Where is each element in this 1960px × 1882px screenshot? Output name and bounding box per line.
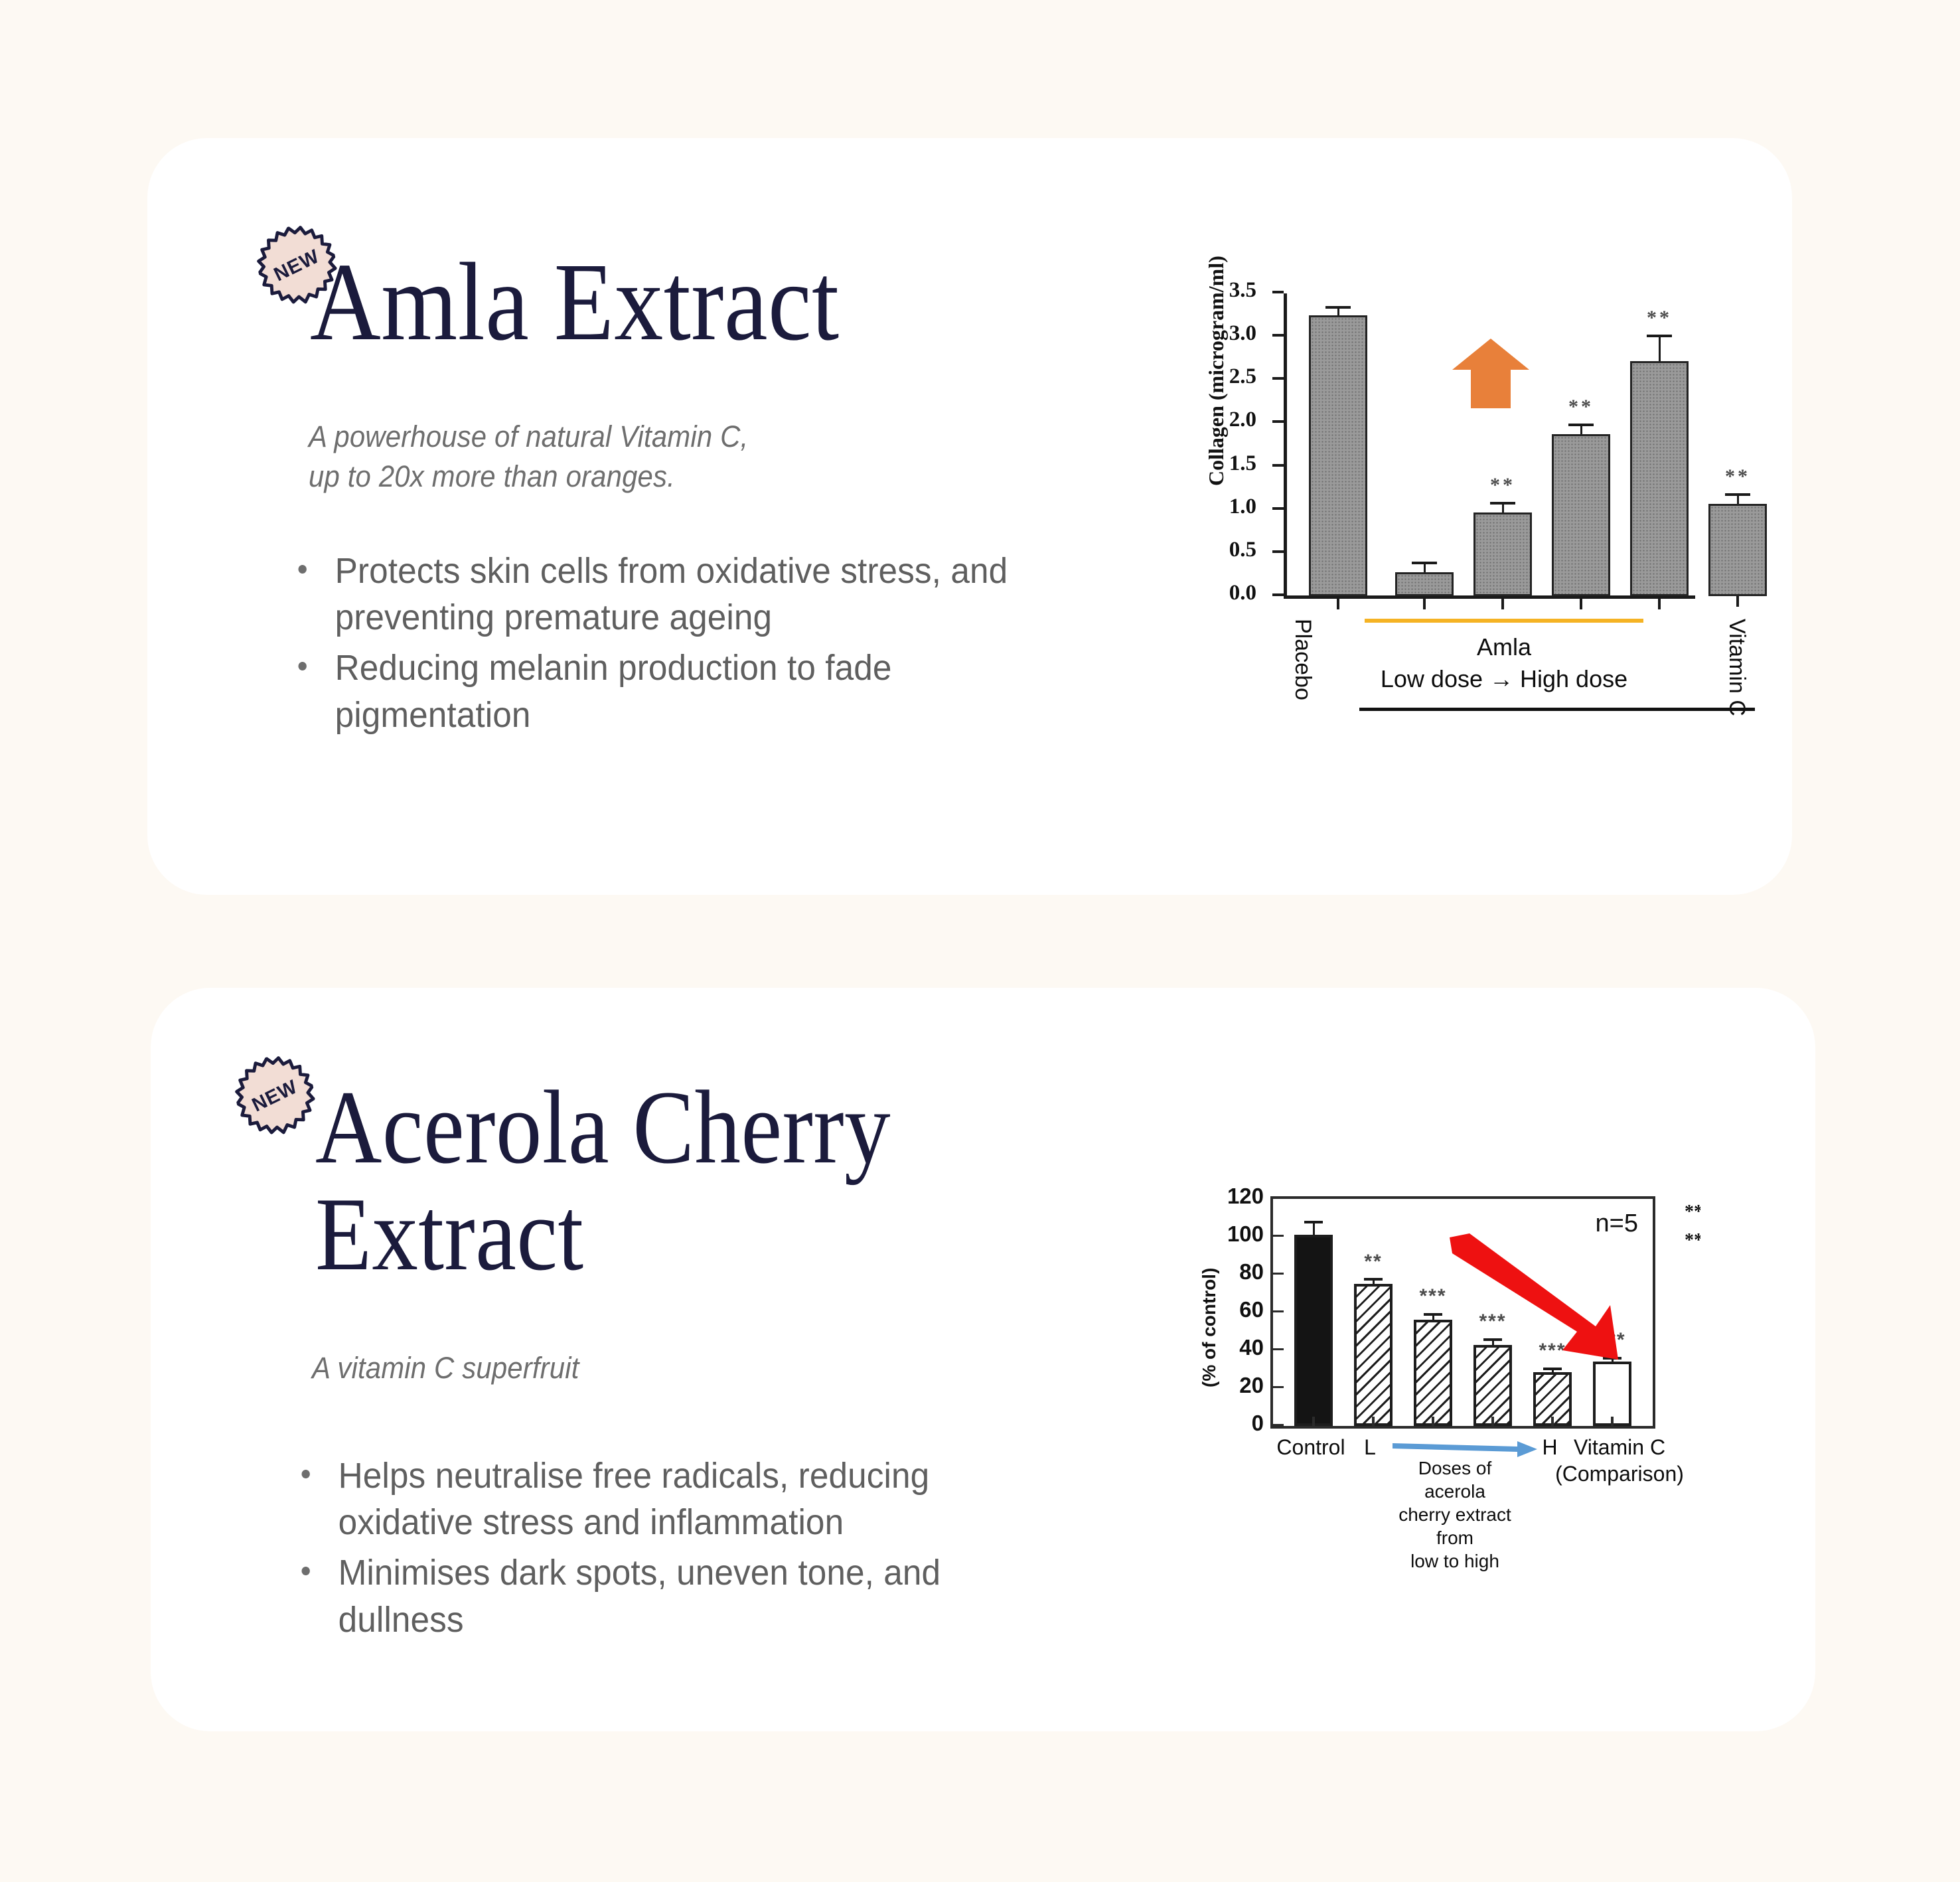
chart-y-axis-label: (% of control) — [1199, 1268, 1220, 1387]
y-tick-label: 120 — [1227, 1184, 1264, 1209]
chart-acerola-melanin: (% of control) 0 20 40 60 80 100 — [1195, 1188, 1699, 1613]
y-tick-label: 2.5 — [1229, 364, 1256, 389]
error-cap — [1412, 562, 1437, 564]
bar-amla-dose3 — [1552, 434, 1610, 596]
y-tick: 20 — [1273, 1386, 1284, 1388]
bar-amla-dose1 — [1395, 572, 1454, 596]
down-right-arrow-red-icon — [1444, 1233, 1622, 1364]
error-cap — [1304, 1221, 1323, 1223]
error-cap — [1325, 306, 1351, 309]
x-tick-label-high: H — [1542, 1435, 1557, 1460]
y-tick: 1.0 — [1272, 507, 1284, 510]
list-item: Protects skin cells from oxidative stres… — [292, 548, 1049, 641]
y-tick: 2.5 — [1272, 377, 1284, 380]
error-bar — [1659, 336, 1661, 361]
list-item: Reducing melanin production to fade pigm… — [292, 645, 1049, 738]
y-tick-label: 1.5 — [1229, 451, 1256, 476]
benefits-list-amla: Protects skin cells from oxidative stres… — [292, 548, 1089, 742]
y-tick: 80 — [1273, 1273, 1284, 1275]
x-tick-label-vitamin-c: Vitamin C — [1574, 1435, 1665, 1460]
chart-amla-collagen: Collagen (microgram/ml) 0.0 0.5 1.0 1.5 … — [1207, 287, 1711, 751]
y-tick-label: 40 — [1239, 1335, 1264, 1360]
y-tick: 0.0 — [1272, 593, 1284, 596]
x-tick-label-comparison: (Comparison) — [1555, 1462, 1684, 1486]
x-tick — [1580, 599, 1582, 609]
x-tick — [1337, 599, 1339, 609]
card-amla-extract: NEW Amla Extract A powerhouse of natural… — [147, 138, 1792, 895]
subtitle-acerola: A vitamin C superfruit — [312, 1348, 991, 1388]
bar-placebo — [1309, 315, 1367, 596]
up-arrow-orange-icon — [1451, 339, 1531, 408]
significance-marker: ** — [1568, 396, 1594, 418]
x-tick — [1372, 1417, 1375, 1426]
error-bar — [1737, 495, 1739, 504]
legend-item: ** — [1685, 1198, 1700, 1226]
x-tick — [1551, 1417, 1554, 1426]
list-item: Minimises dark spots, uneven tone, and d… — [295, 1549, 1002, 1642]
chart-y-axis-label: Collagen (microgram/ml) — [1204, 256, 1229, 486]
page-title-acerola: Acerola Cherry Extract — [315, 1074, 891, 1288]
error-cap — [1490, 502, 1515, 505]
error-cap — [1424, 1313, 1442, 1316]
bar-amla-dose4 — [1630, 361, 1689, 596]
x-tick — [1611, 1417, 1614, 1426]
x-tick-label-low: L — [1364, 1435, 1376, 1460]
card-acerola-cherry-extract: NEW Acerola Cherry Extract A vitamin C s… — [151, 988, 1815, 1731]
bottom-rule — [1359, 708, 1755, 711]
error-cap — [1725, 493, 1750, 496]
y-tick-label: 1.0 — [1229, 495, 1256, 519]
y-tick: 60 — [1273, 1310, 1284, 1312]
x-tick-label-vitamin-c: Vitamin C — [1724, 619, 1750, 716]
significance-marker: *** — [1419, 1285, 1446, 1308]
significance-marker: ** — [1725, 465, 1750, 488]
y-tick: 120 — [1273, 1197, 1284, 1199]
y-tick: 40 — [1273, 1348, 1284, 1350]
chart-plot-area: 0 20 40 60 80 100 120 n=5 — [1270, 1196, 1655, 1429]
error-bar — [1424, 563, 1426, 572]
right-arrow-blue-icon — [1393, 1441, 1539, 1458]
y-tick-label: 60 — [1239, 1297, 1264, 1322]
x-tick — [1432, 1417, 1434, 1426]
group-bracket-amber — [1365, 619, 1643, 623]
x-axis-caption: Doses of acerola cherry extract from low… — [1389, 1456, 1521, 1573]
subtitle-amla: A powerhouse of natural Vitamin C, up to… — [309, 417, 988, 497]
x-tick — [1491, 1417, 1494, 1426]
y-tick: 3.5 — [1272, 291, 1284, 293]
y-tick-label: 2.0 — [1229, 408, 1256, 432]
error-cap — [1543, 1368, 1562, 1370]
x-tick-label-control: Control — [1276, 1435, 1345, 1460]
y-tick: 2.0 — [1272, 420, 1284, 423]
error-bar — [1313, 1222, 1315, 1235]
y-tick: 100 — [1273, 1235, 1284, 1237]
x-tick — [1423, 599, 1426, 609]
y-tick-label: 0 — [1252, 1411, 1264, 1436]
significance-marker: ** — [1647, 307, 1672, 329]
y-tick: 1.5 — [1272, 464, 1284, 467]
y-tick-label: 20 — [1239, 1373, 1264, 1398]
bar-vitamin-c — [1708, 504, 1767, 596]
error-cap — [1568, 424, 1594, 426]
significance-marker: ** — [1364, 1251, 1382, 1273]
y-axis-line — [1284, 293, 1287, 599]
bar-control — [1294, 1235, 1333, 1426]
y-tick: 0.5 — [1272, 550, 1284, 553]
x-tick — [1658, 599, 1661, 609]
error-bar — [1502, 503, 1504, 512]
y-tick-label: 3.0 — [1229, 321, 1256, 346]
y-tick-label: 80 — [1239, 1259, 1264, 1285]
x-tick — [1501, 599, 1504, 609]
y-tick-label: 3.5 — [1229, 278, 1256, 303]
x-tick — [1312, 1417, 1315, 1426]
y-tick-label: 100 — [1227, 1221, 1264, 1247]
error-bar — [1580, 425, 1582, 434]
group-label-dose-range: Low dose → High dose — [1338, 664, 1670, 695]
x-tick-label-placebo: Placebo — [1290, 619, 1316, 700]
legend-item: *** — [1685, 1226, 1700, 1255]
list-item: Helps neutralise free radicals, reducing… — [295, 1452, 1002, 1545]
new-badge-icon: NEW — [228, 1048, 325, 1151]
significance-marker: ** — [1490, 474, 1515, 497]
y-tick-label: 0.5 — [1229, 538, 1256, 562]
y-tick: 0 — [1273, 1424, 1284, 1426]
x-tick — [1736, 596, 1739, 607]
error-cap — [1364, 1278, 1383, 1281]
significance-legend-clipped: ** *** — [1685, 1198, 1700, 1255]
page-title-amla: Amla Extract — [310, 246, 840, 359]
y-tick-label: 0.0 — [1229, 581, 1256, 605]
slide-page: NEW Amla Extract A powerhouse of natural… — [0, 0, 1960, 1882]
bar-dose-low — [1354, 1284, 1393, 1426]
bar-amla-dose2 — [1473, 512, 1532, 596]
benefits-list-acerola: Helps neutralise free radicals, reducing… — [295, 1452, 1039, 1647]
vitc-bar-group: ** — [1708, 293, 1788, 599]
group-label-amla: Amla — [1358, 632, 1650, 663]
y-tick: 3.0 — [1272, 334, 1284, 337]
error-cap — [1647, 335, 1672, 337]
